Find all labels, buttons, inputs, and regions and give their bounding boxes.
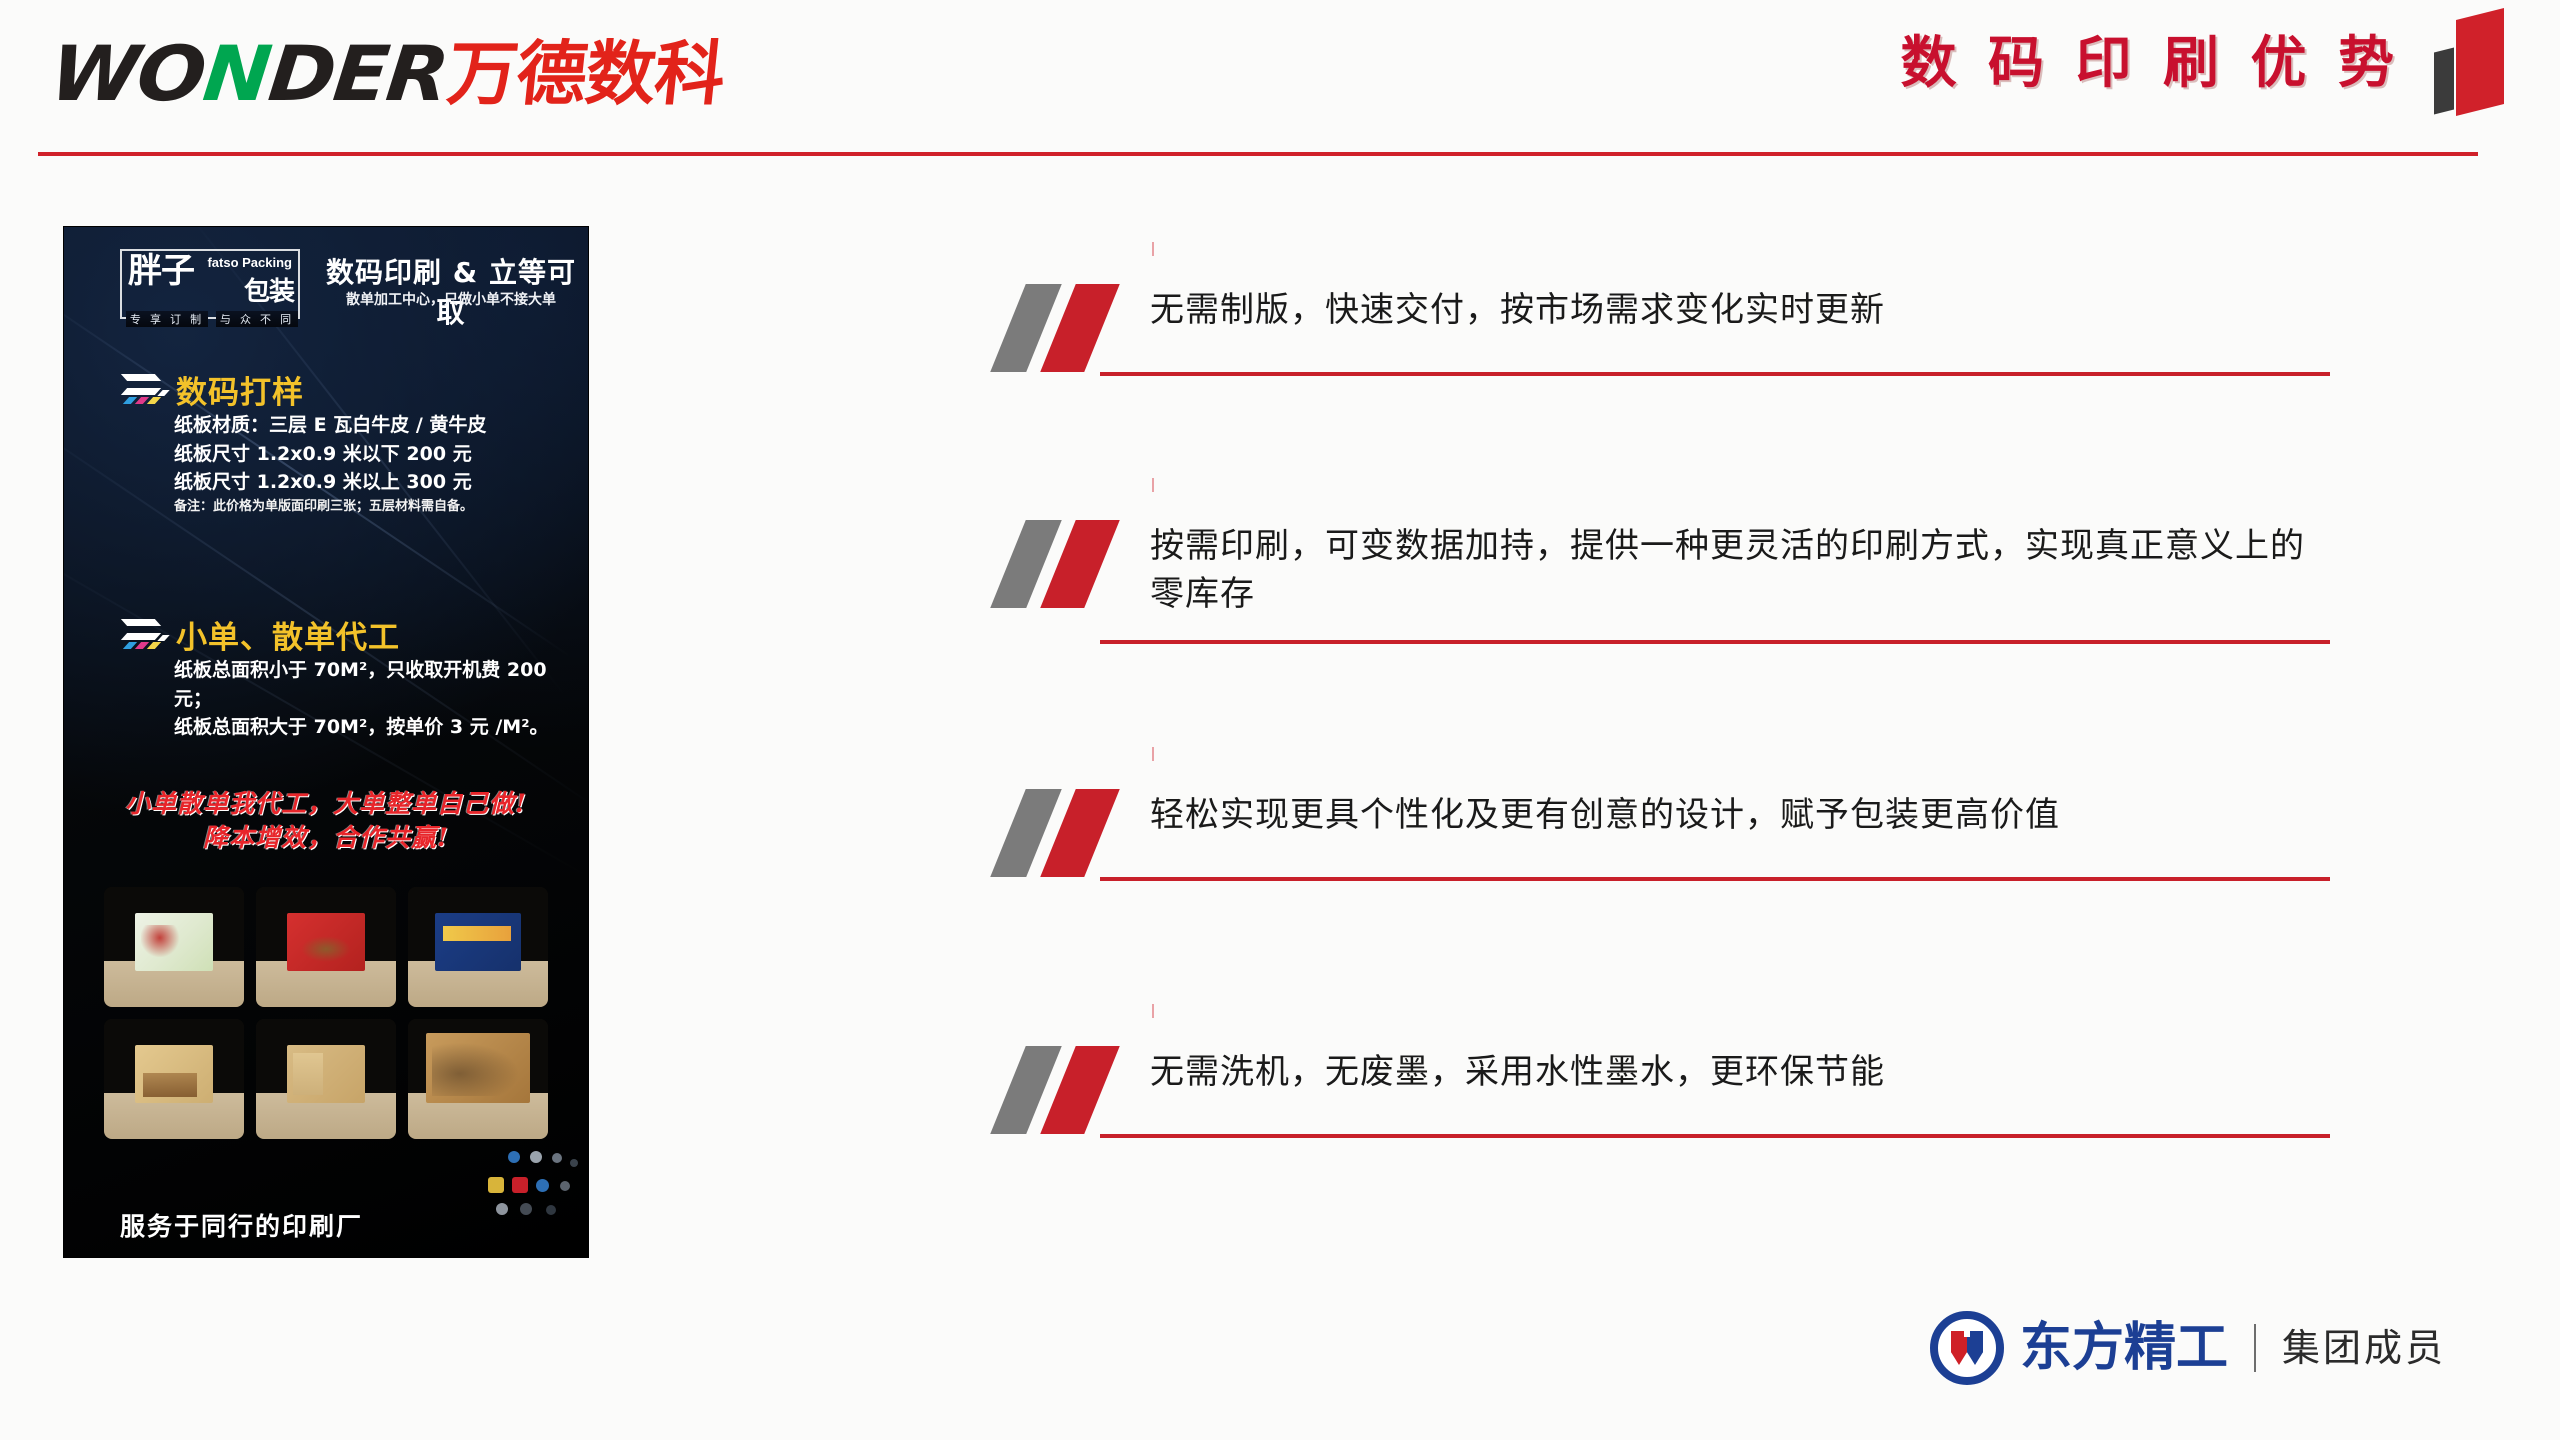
- advantage-underline: [1100, 372, 2330, 376]
- section-note: 备注：此价格为单版面印刷三张；五层材料需自备。: [174, 497, 572, 517]
- poster-footer-text: 服务于同行的印刷厂: [64, 1207, 588, 1243]
- bullet-marker-icon: [1000, 280, 1168, 372]
- dfjg-member-label: 集团成员: [2282, 1329, 2446, 1367]
- section-title: 数码打样: [176, 367, 304, 412]
- section-line: 纸板总面积大于 70M²，按单价 3 元 /M²。: [174, 713, 572, 742]
- dfjg-company-name: 东方精工: [2020, 1322, 2228, 1374]
- advantage-text: 轻松实现更具个性化及更有创意的设计，赋予包装更高价值: [1150, 791, 2330, 839]
- bullet-marker-icon: [1000, 516, 1168, 608]
- dfjg-separator: [2254, 1324, 2256, 1372]
- poster-slogan: 小单散单我代工，大单整单自己做! 降本增效，合作共赢!: [104, 787, 548, 855]
- bullet-tick: [1152, 242, 1154, 256]
- wonder-text-post: DER: [265, 29, 452, 118]
- bullet-tick: [1152, 747, 1154, 761]
- fatso-logo-taglines: 专 享 订 制 与 众 不 同: [122, 311, 302, 327]
- product-photo: [256, 887, 396, 1007]
- slide-header: WONDER 万德数科 数 码 印 刷 优 势: [0, 0, 2560, 170]
- advantage-underline: [1100, 640, 2330, 644]
- corner-red-bar: [2456, 8, 2504, 116]
- bullet-tick: [1152, 1004, 1154, 1018]
- advantage-underline: [1100, 877, 2330, 881]
- section-line: 纸板尺寸 1.2x0.9 米以下 200 元: [174, 440, 572, 469]
- fatso-tagline-left: 专 享 订 制: [126, 311, 208, 327]
- slogan-line-2: 降本增效，合作共赢!: [104, 821, 548, 855]
- bullet-tick: [1152, 478, 1154, 492]
- advantage-text: 无需制版，快速交付，按市场需求变化实时更新: [1150, 286, 2330, 334]
- fatso-tagline-right: 与 众 不 同: [216, 311, 298, 327]
- advantage-text: 无需洗机，无废墨，采用水性墨水，更环保节能: [1150, 1048, 2330, 1096]
- dongfang-jinggong-logo: 东方精工 集团成员: [1930, 1310, 2446, 1386]
- chevron-arrow-icon: [122, 617, 170, 651]
- chevron-arrow-icon: [122, 372, 170, 406]
- wonder-wordmark: WONDER: [47, 36, 451, 112]
- product-photo: [408, 1019, 548, 1139]
- section-line: 纸板总面积小于 70M²，只收取开机费 200 元；: [174, 656, 572, 713]
- product-photo: [104, 1019, 244, 1139]
- promo-poster-image: 胖子 fatso Packing 包装 专 享 订 制 与 众 不 同 数码印刷…: [64, 227, 588, 1257]
- bullet-marker-icon: [1000, 1042, 1168, 1134]
- page-title: 数 码 印 刷 优 势: [1901, 36, 2400, 92]
- section-header: 数码打样: [122, 367, 572, 411]
- fatso-packing-logo: 胖子 fatso Packing 包装 专 享 订 制 与 众 不 同: [120, 249, 300, 319]
- product-photo: [104, 887, 244, 1007]
- product-photo: [256, 1019, 396, 1139]
- section-header: 小单、散单代工: [122, 612, 572, 656]
- slogan-line-1: 小单散单我代工，大单整单自己做!: [125, 789, 527, 818]
- section-title: 小单、散单代工: [176, 612, 400, 657]
- corner-decoration-icon: [2434, 6, 2524, 116]
- poster-photo-grid: [104, 887, 548, 1139]
- wonder-text-pre: WO: [46, 29, 208, 118]
- header-divider: [38, 152, 2478, 156]
- advantage-underline: [1100, 1134, 2330, 1138]
- bullet-marker-icon: [1000, 785, 1168, 877]
- poster-section-small-orders: 小单、散单代工 纸板总面积小于 70M²，只收取开机费 200 元； 纸板总面积…: [122, 612, 572, 742]
- fatso-logo-cn2: 包装: [244, 271, 294, 308]
- section-line: 纸板材质：三层 E 瓦白牛皮 / 黄牛皮: [174, 411, 572, 440]
- wonder-text-slash: N: [199, 29, 274, 118]
- product-photo: [408, 887, 548, 1007]
- wonder-chinese-name: 万德数科: [444, 39, 727, 109]
- corner-dark-bar: [2434, 48, 2454, 115]
- fatso-logo-cn: 胖子: [128, 255, 194, 287]
- section-line: 纸板尺寸 1.2x0.9 米以上 300 元: [174, 468, 572, 497]
- poster-section-digital-proofing: 数码打样 纸板材质：三层 E 瓦白牛皮 / 黄牛皮 纸板尺寸 1.2x0.9 米…: [122, 367, 572, 516]
- wonder-logo: WONDER 万德数科: [62, 34, 724, 114]
- fatso-logo-en: fatso Packing: [207, 255, 292, 270]
- poster-subheadline: 散单加工中心，只做小单不接大单: [326, 289, 576, 309]
- advantage-text: 按需印刷，可变数据加持，提供一种更灵活的印刷方式，实现真正意义上的零库存: [1150, 522, 2330, 619]
- dfjg-emblem-icon: [1930, 1311, 2004, 1385]
